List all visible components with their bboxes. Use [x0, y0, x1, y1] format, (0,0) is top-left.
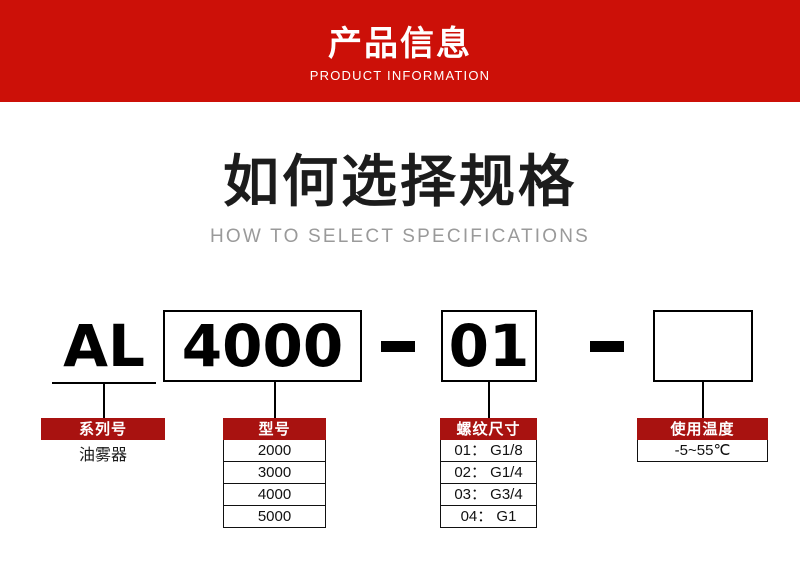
spec-value-model-2: 4000: [223, 484, 326, 506]
banner-title-en: PRODUCT INFORMATION: [310, 67, 490, 85]
section-heading-cn: 如何选择规格: [0, 150, 800, 216]
section-heading-en: HOW TO SELECT SPECIFICATIONS: [0, 224, 800, 250]
spec-column-model: 型号 2000 3000 4000 5000: [223, 418, 326, 528]
code-segment-series: AL: [52, 310, 156, 384]
section-heading: 如何选择规格 HOW TO SELECT SPECIFICATIONS: [0, 150, 800, 250]
spec-column-header-thread: 螺纹尺寸: [440, 418, 537, 440]
spec-value-thread-0: 01： G1/8: [440, 440, 537, 462]
banner-title-cn: 产品信息: [328, 24, 472, 64]
spec-column-header-model: 型号: [223, 418, 326, 440]
spec-value-temperature-0: -5~55℃: [637, 440, 768, 462]
spec-value-model-1: 3000: [223, 462, 326, 484]
spec-value-model-3: 5000: [223, 506, 326, 528]
spec-value-thread-1: 02： G1/4: [440, 462, 537, 484]
code-dash-separator-1: [381, 341, 415, 352]
leader-line-temperature: [702, 382, 704, 418]
spec-column-temperature: 使用温度 -5~55℃: [637, 418, 768, 462]
leader-line-model: [274, 382, 276, 418]
spec-value-series-0: 油雾器: [41, 440, 165, 470]
spec-value-thread-2: 03： G3/4: [440, 484, 537, 506]
spec-value-thread-3: 04： G1: [440, 506, 537, 528]
spec-column-thread: 螺纹尺寸 01： G1/8 02： G1/4 03： G3/4 04： G1: [440, 418, 537, 528]
leader-line-series: [103, 382, 105, 418]
spec-column-header-series: 系列号: [41, 418, 165, 440]
spec-column-series: 系列号 油雾器: [41, 418, 165, 470]
code-segment-model: 4000: [163, 310, 362, 382]
product-information-banner: 产品信息 PRODUCT INFORMATION: [0, 0, 800, 102]
code-segment-thread: 01: [441, 310, 537, 382]
model-code-row: AL 4000 01: [0, 300, 800, 392]
leader-line-thread: [488, 382, 490, 418]
spec-value-model-0: 2000: [223, 440, 326, 462]
code-dash-separator-2: [590, 341, 624, 352]
spec-column-header-temperature: 使用温度: [637, 418, 768, 440]
code-segment-temperature: [653, 310, 753, 382]
